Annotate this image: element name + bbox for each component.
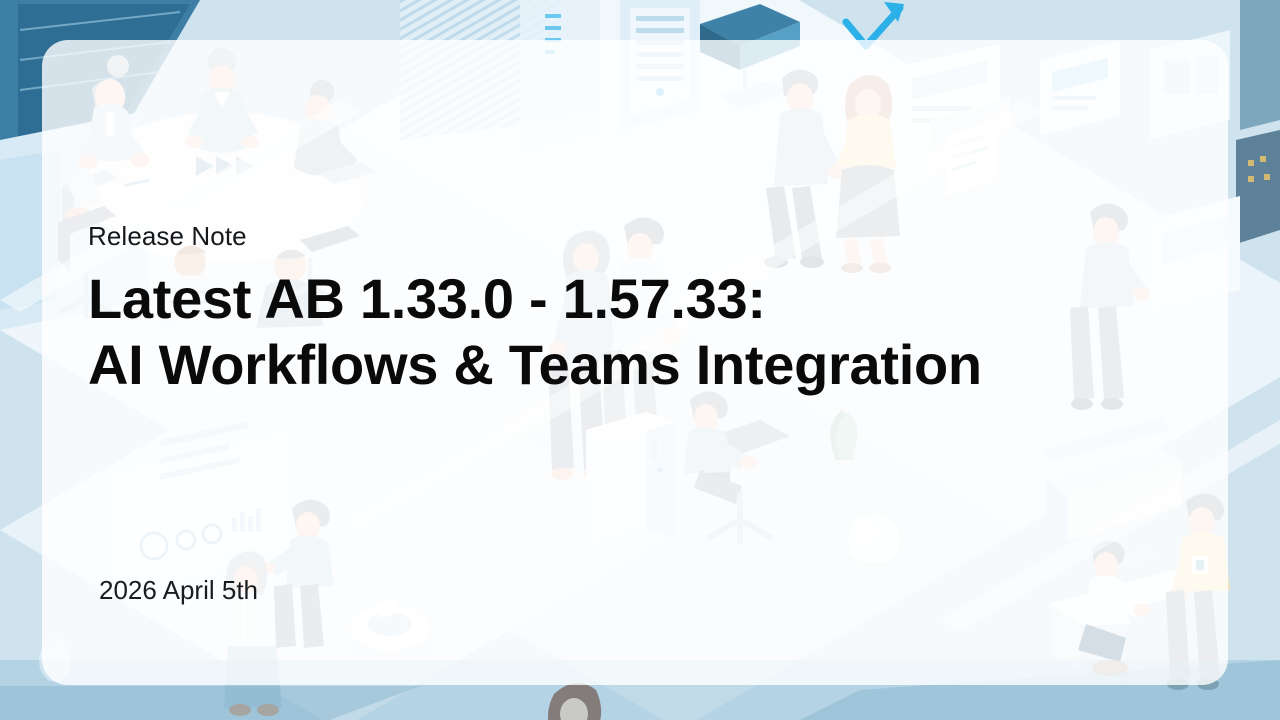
eyebrow-label: Release Note — [88, 222, 1148, 252]
title-text-block: Release Note Latest AB 1.33.0 - 1.57.33:… — [88, 222, 1148, 398]
page-title-line-1: Latest AB 1.33.0 - 1.57.33: — [88, 266, 1148, 332]
page-title-line-2: AI Workflows & Teams Integration — [88, 332, 1148, 398]
title-slide: Release Note Latest AB 1.33.0 - 1.57.33:… — [0, 0, 1280, 720]
page-title: Latest AB 1.33.0 - 1.57.33: AI Workflows… — [88, 266, 1148, 398]
slide-date: 2026 April 5th — [99, 575, 258, 606]
